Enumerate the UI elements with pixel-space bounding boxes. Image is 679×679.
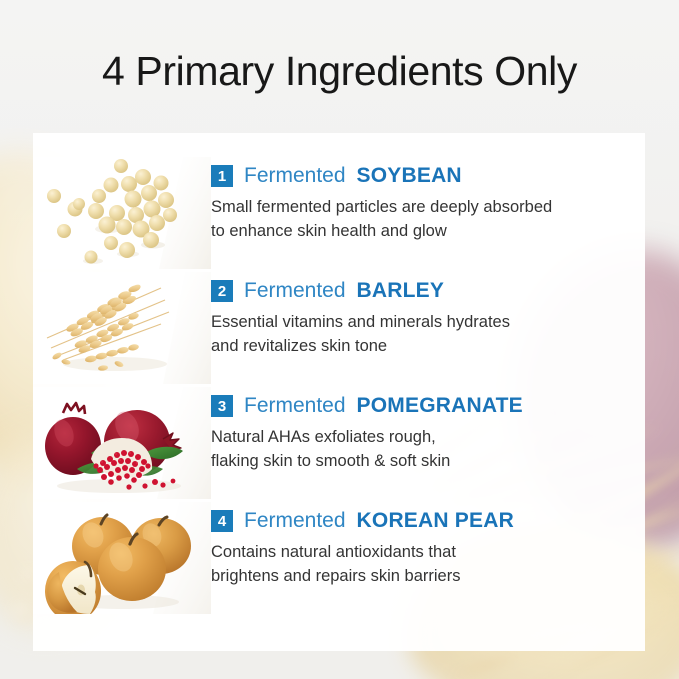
ingredient-number-badge: 1 <box>211 165 233 187</box>
ingredient-copy: 3 Fermented POMEGRANATE Natural AHAs exf… <box>211 387 645 473</box>
barley-stalks-photo <box>33 272 211 384</box>
ingredient-prefix: Fermented <box>244 279 346 303</box>
page-title: 4 Primary Ingredients Only <box>0 46 679 96</box>
list-item: 1 Fermented SOYBEAN Small fermented part… <box>33 157 645 272</box>
ingredient-copy: 2 Fermented BARLEY Essential vitamins an… <box>211 272 645 358</box>
ingredients-card: 1 Fermented SOYBEAN Small fermented part… <box>33 133 645 651</box>
description-line: and revitalizes skin tone <box>211 335 631 359</box>
description-line: Essential vitamins and minerals hydrates <box>211 311 631 335</box>
ingredient-prefix: Fermented <box>244 164 346 188</box>
description-line: Contains natural antioxidants that <box>211 541 631 565</box>
ingredient-headline: 4 Fermented KOREAN PEAR <box>211 508 635 534</box>
ingredient-headline: 2 Fermented BARLEY <box>211 278 635 304</box>
ingredient-number-badge: 4 <box>211 510 233 532</box>
description-line: to enhance skin health and glow <box>211 220 631 244</box>
ingredient-description: Essential vitamins and minerals hydrates… <box>211 311 631 358</box>
ingredient-description: Small fermented particles are deeply abs… <box>211 196 631 243</box>
list-item: 4 Fermented KOREAN PEAR Contains natural… <box>33 502 645 617</box>
ingredient-description: Contains natural antioxidants that brigh… <box>211 541 631 588</box>
ingredient-name: BARLEY <box>355 279 447 303</box>
ingredient-prefix: Fermented <box>244 509 346 533</box>
description-line: Natural AHAs exfoliates rough, <box>211 426 631 450</box>
ingredient-headline: 1 Fermented SOYBEAN <box>211 163 635 189</box>
infographic-page: 4 Primary Ingredients Only <box>0 0 679 679</box>
ingredient-prefix: Fermented <box>244 394 346 418</box>
ingredient-copy: 4 Fermented KOREAN PEAR Contains natural… <box>211 502 645 588</box>
korean-pear-photo <box>33 502 211 614</box>
ingredient-number-badge: 2 <box>211 280 233 302</box>
soybeans-photo <box>33 157 211 269</box>
ingredient-copy: 1 Fermented SOYBEAN Small fermented part… <box>211 157 645 243</box>
description-line: flaking skin to smooth & soft skin <box>211 450 631 474</box>
ingredient-name: SOYBEAN <box>355 164 464 188</box>
list-item: 3 Fermented POMEGRANATE Natural AHAs exf… <box>33 387 645 502</box>
ingredient-name: POMEGRANATE <box>355 394 525 418</box>
ingredient-description: Natural AHAs exfoliates rough, flaking s… <box>211 426 631 473</box>
pomegranate-photo <box>33 387 211 499</box>
ingredient-headline: 3 Fermented POMEGRANATE <box>211 393 635 419</box>
description-line: Small fermented particles are deeply abs… <box>211 196 631 220</box>
ingredient-name: KOREAN PEAR <box>355 509 516 533</box>
ingredient-number-badge: 3 <box>211 395 233 417</box>
description-line: brightens and repairs skin barriers <box>211 565 631 589</box>
list-item: 2 Fermented BARLEY Essential vitamins an… <box>33 272 645 387</box>
